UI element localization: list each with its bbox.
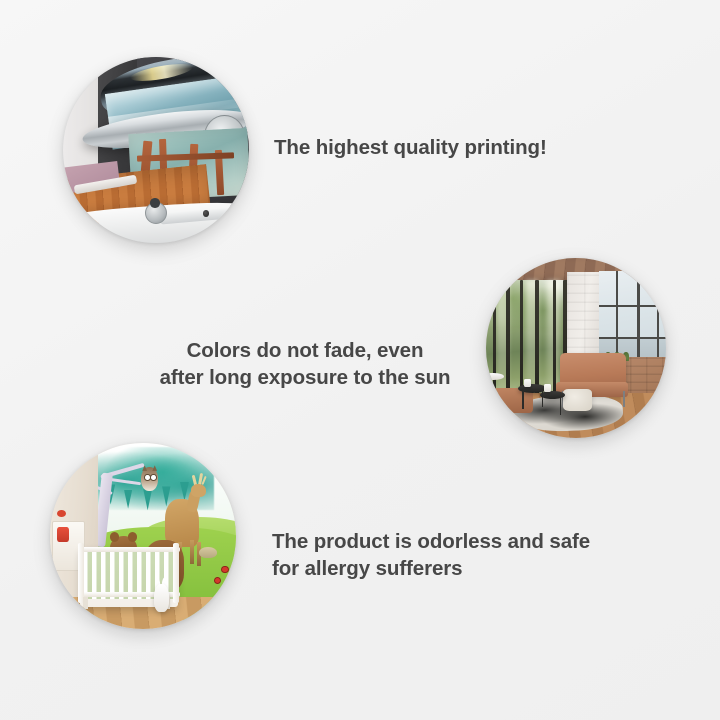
feature-caption-odorless-safe: The product is odorless and safe for all… [272, 528, 672, 582]
feature-caption-printing-quality: The highest quality printing! [274, 134, 674, 161]
coffee-cup [524, 379, 531, 387]
feature-caption-fade-resistance: Colors do not fade, evenafter long expos… [140, 337, 470, 391]
window-mullion [599, 337, 666, 339]
bear-ear [128, 532, 137, 541]
table-leg [522, 391, 524, 409]
scene-nursery-mural [50, 443, 236, 629]
feature-image-nursery [50, 443, 236, 629]
feature-image-living-room [486, 258, 666, 438]
scene-printing-machine [63, 57, 249, 243]
caption-line-2: after long exposure to the sun [160, 366, 451, 389]
deer-head [191, 484, 206, 497]
window-mullion [599, 305, 666, 307]
mural-tree-trunk [493, 280, 496, 406]
table-leg [542, 389, 544, 407]
crib-top-rail [78, 547, 180, 552]
bear-ear [110, 532, 119, 541]
owl-eye [150, 474, 156, 481]
machine-knob-small [150, 198, 159, 207]
promo-page: The highest quality printing! [0, 0, 720, 720]
feature-image-printing-machine [63, 57, 249, 243]
crib-post [173, 543, 179, 603]
mural-ladybug [221, 566, 229, 574]
ottoman-pouf [563, 389, 592, 411]
coffee-cup [544, 384, 551, 392]
table-leg [560, 397, 562, 415]
crib-post [78, 543, 84, 603]
plush-rabbit [154, 584, 169, 612]
caption-line-2: for allergy sufferers [272, 557, 462, 580]
caption-line-1: The product is odorless and safe [272, 530, 590, 553]
machine-bolt [203, 210, 210, 217]
crib-foot [83, 597, 87, 608]
sofa-leg [623, 391, 625, 407]
red-jar [57, 527, 68, 542]
deer-leg [190, 540, 194, 564]
caption-line-1: Colors do not fade, even [187, 339, 424, 362]
scene-living-room-mural [486, 258, 666, 438]
machine-bolt [83, 214, 90, 221]
